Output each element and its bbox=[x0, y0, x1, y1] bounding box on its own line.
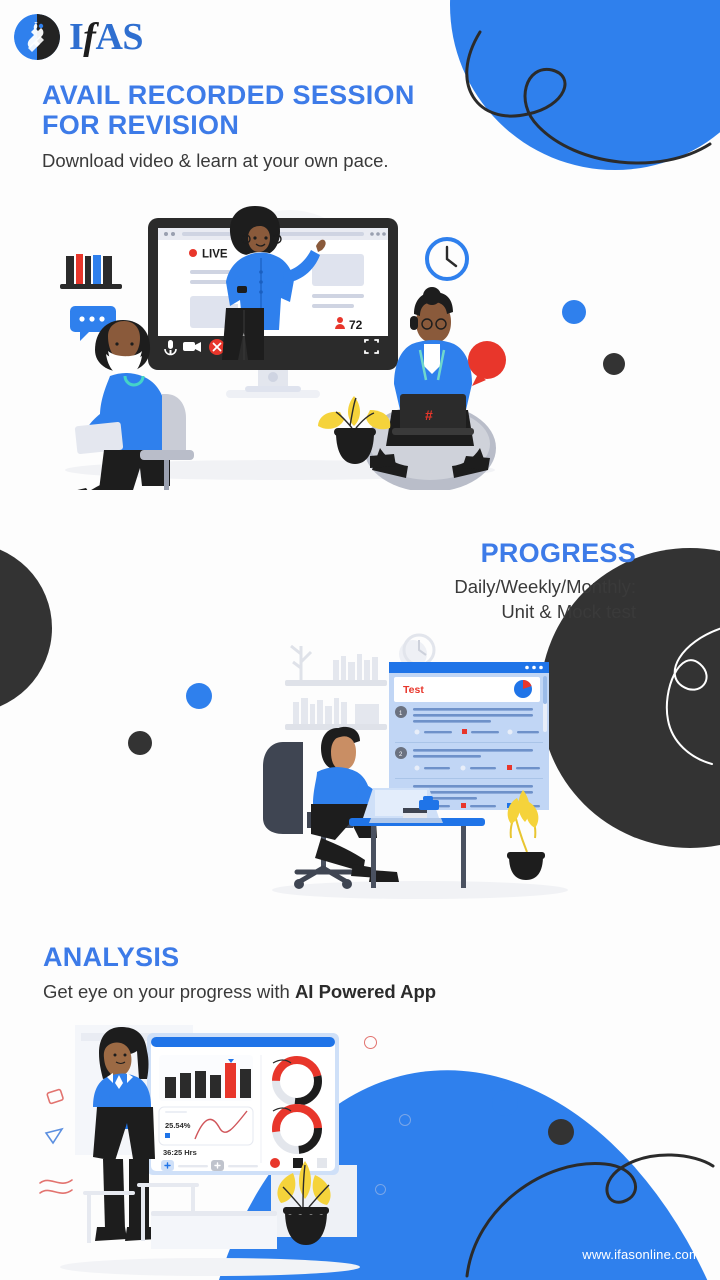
section-2-heading: PROGRESS bbox=[216, 538, 636, 568]
section-3-subtext-bold: AI Powered App bbox=[295, 981, 436, 1002]
logo-letter-f: f bbox=[83, 16, 95, 58]
donut-legend bbox=[270, 1158, 327, 1168]
section-1-heading-line-1: AVAIL RECORDED SESSION bbox=[42, 80, 542, 110]
section-progress: PROGRESS Daily/Weekly/Monthly: Unit & Mo… bbox=[216, 538, 636, 625]
section-3-subtext-plain: Get eye on your progress with bbox=[43, 981, 295, 1002]
viewer-count-label: 72 bbox=[349, 318, 363, 332]
blue-dot-2 bbox=[186, 683, 212, 709]
line-chart-card: 25.54% bbox=[159, 1107, 253, 1145]
blue-dot-1 bbox=[562, 300, 586, 324]
dark-circle-left bbox=[0, 543, 52, 713]
section-recorded-session: AVAIL RECORDED SESSION FOR REVISION Down… bbox=[42, 80, 542, 172]
section-2-subtext-line-1: Daily/Weekly/Monthly: bbox=[216, 575, 636, 600]
percent-stat-label: 25.54% bbox=[165, 1121, 191, 1130]
brand-logo[interactable]: IfAS bbox=[14, 14, 143, 60]
section-2-subtext-line-2: Unit & Mock test bbox=[216, 600, 636, 625]
section-3-heading: ANALYSIS bbox=[43, 942, 643, 972]
bar-chart bbox=[159, 1055, 253, 1101]
wall-clock-icon bbox=[427, 239, 467, 279]
poster-canvas: IfAS AVAIL RECORDED SESSION FOR REVISION… bbox=[0, 0, 720, 1280]
live-dot-icon bbox=[189, 249, 197, 257]
blue-ring-icon-1 bbox=[399, 1114, 411, 1126]
hours-stat-label: 36:25 Hrs bbox=[163, 1148, 197, 1157]
blue-dot-3 bbox=[492, 1090, 518, 1116]
legend-swatch-blue bbox=[165, 1133, 170, 1138]
section-1-heading: AVAIL RECORDED SESSION FOR REVISION bbox=[42, 80, 542, 140]
dark-dot-1 bbox=[603, 353, 625, 375]
website-url[interactable]: www.ifasonline.com bbox=[582, 1247, 700, 1262]
logo-letters-as: AS bbox=[95, 16, 143, 58]
microscope-circle-icon bbox=[14, 14, 60, 60]
svg-text:#: # bbox=[425, 407, 433, 423]
illustration-analytics-dashboard: 25.54% 36:25 Hrs bbox=[35, 1015, 385, 1280]
section-1-subtext: Download video & learn at your own pace. bbox=[42, 150, 542, 172]
red-speech-bubble-icon bbox=[468, 341, 506, 386]
logo-letter-i: I bbox=[69, 16, 83, 58]
dark-dot-2 bbox=[128, 731, 152, 755]
section-2-subtext: Daily/Weekly/Monthly: Unit & Mock test bbox=[216, 575, 636, 625]
dark-dot-3 bbox=[548, 1119, 574, 1145]
brand-wordmark: IfAS bbox=[69, 18, 143, 56]
live-badge-label: LIVE bbox=[202, 249, 228, 261]
test-window-title: Test bbox=[403, 684, 424, 696]
camera-icon bbox=[183, 342, 201, 352]
section-analysis: ANALYSIS Get eye on your progress with A… bbox=[43, 942, 643, 1003]
section-1-heading-line-2: FOR REVISION bbox=[42, 110, 542, 140]
pie-chart-icon bbox=[514, 680, 532, 698]
section-3-subtext: Get eye on your progress with AI Powered… bbox=[43, 981, 643, 1003]
illustration-test-window: Test 1 2 bbox=[255, 632, 585, 904]
illustration-live-class: LIVE 72 bbox=[40, 198, 510, 490]
